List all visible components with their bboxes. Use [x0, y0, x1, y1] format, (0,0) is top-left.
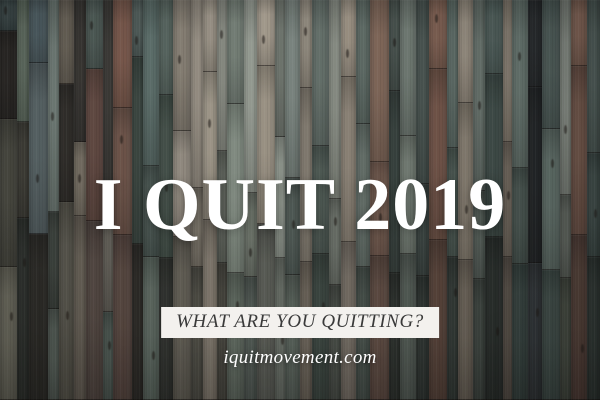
- subtitle-text: WHAT ARE YOU QUITTING?: [176, 312, 424, 332]
- poster-canvas: I QUIT 2019 WHAT ARE YOU QUITTING? iquit…: [0, 0, 600, 400]
- page-title: I QUIT 2019: [0, 168, 600, 242]
- website-url: iquitmovement.com: [0, 347, 600, 369]
- subtitle-band: WHAT ARE YOU QUITTING?: [161, 307, 439, 338]
- poster-content: I QUIT 2019 WHAT ARE YOU QUITTING? iquit…: [0, 0, 600, 400]
